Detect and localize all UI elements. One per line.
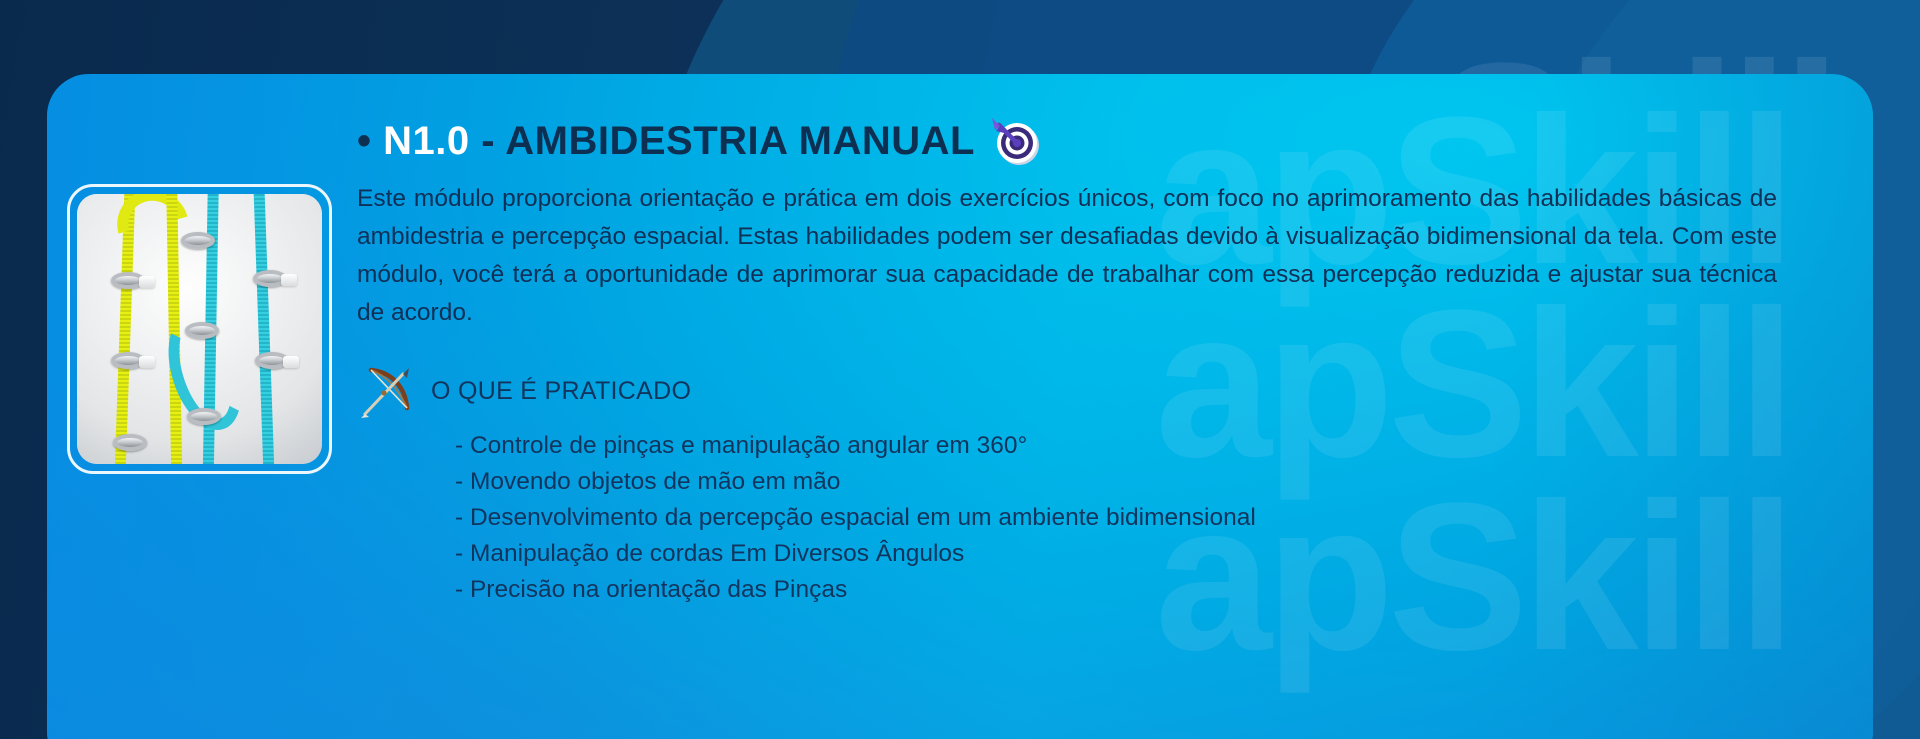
list-item: - Desenvolvimento da percepção espacial … — [455, 500, 1787, 536]
title-module-name: AMBIDESTRIA MANUAL — [505, 119, 975, 163]
practiced-section-title: O QUE É PRATICADO — [431, 377, 691, 406]
practiced-list: - Controle de pinças e manipulação angul… — [455, 428, 1787, 608]
title-separator: - — [481, 119, 495, 163]
list-item: - Controle de pinças e manipulação angul… — [455, 428, 1787, 464]
bow-and-arrow-icon — [357, 362, 419, 420]
title-bullet: • — [357, 119, 372, 163]
metal-ring — [185, 322, 219, 339]
product-photo-frame — [67, 184, 332, 474]
card-content: • N1.0 - AMBIDESTRIA MANUAL — [357, 114, 1787, 608]
metal-ring — [181, 232, 215, 249]
module-description: Este módulo proporciona orientação e prá… — [357, 180, 1777, 332]
metal-ring — [187, 408, 221, 425]
board-peg — [139, 356, 155, 368]
page-title: • N1.0 - AMBIDESTRIA MANUAL — [357, 119, 975, 164]
target-dart-icon — [989, 114, 1043, 168]
list-item: - Precisão na orientação das Pinças — [455, 572, 1787, 608]
module-card: apSkill apSkill apSkill — [47, 74, 1873, 739]
board-peg — [139, 276, 155, 288]
list-item: - Manipulação de cordas Em Diversos Ângu… — [455, 536, 1787, 572]
board-peg — [283, 356, 299, 368]
board-peg — [281, 274, 297, 286]
title-row: • N1.0 - AMBIDESTRIA MANUAL — [357, 114, 1787, 168]
metal-ring — [113, 434, 147, 451]
list-item: - Movendo objetos de mão em mão — [455, 464, 1787, 500]
product-photo — [77, 194, 322, 464]
title-module-code: N1.0 — [383, 119, 470, 163]
practiced-section-header: O QUE É PRATICADO — [357, 362, 1787, 420]
screenshot-root: apSkill apSkill apSkill apSkill apSkill … — [0, 0, 1920, 739]
